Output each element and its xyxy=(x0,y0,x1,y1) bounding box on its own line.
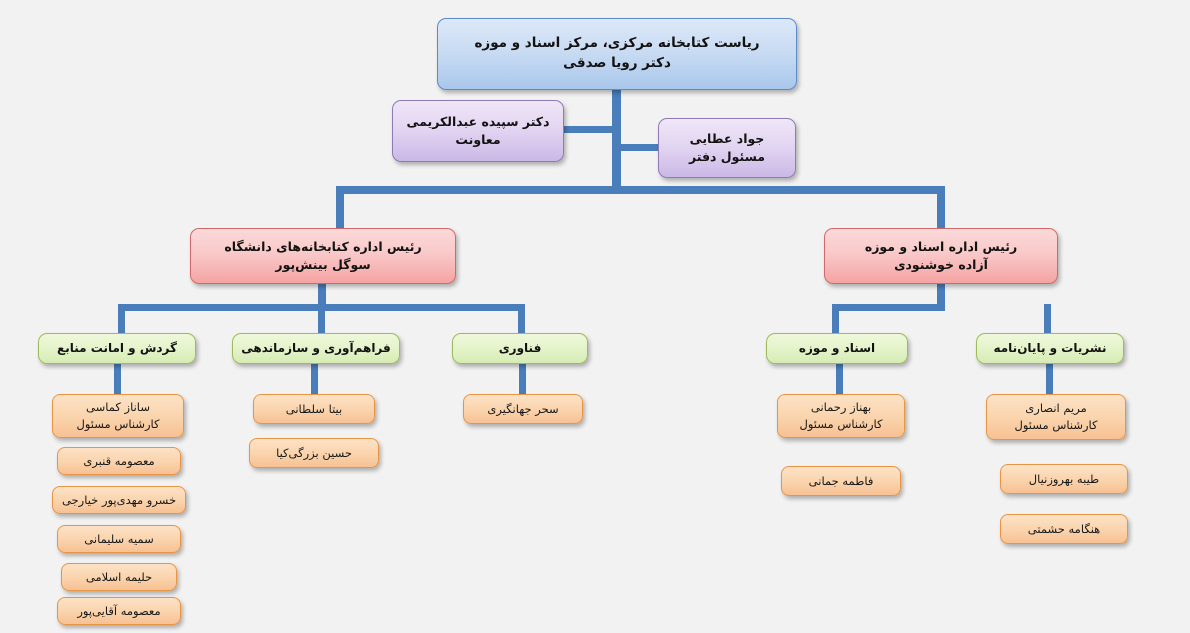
staff-name: هنگامه حشمتی xyxy=(1028,521,1100,538)
staff-name: حسین بزرگی‌کیا xyxy=(276,445,352,462)
node-unit-journals-theses[interactable]: نشریات و پایان‌نامه xyxy=(976,333,1124,364)
node-manager-university-libraries[interactable]: رئیس اداره کتابخانه‌های دانشگاه سوگل بین… xyxy=(190,228,456,284)
node-office-manager-ataei[interactable]: جواد عطایی مسئول دفتر xyxy=(658,118,796,178)
node-root-title: ریاست کتابخانه مرکزی، مرکز اسناد و موزه xyxy=(474,34,759,54)
node-unit-archives-museum[interactable]: اسناد و موزه xyxy=(766,333,908,364)
staff-name: معصومه قنبری xyxy=(83,453,154,470)
node-staff-ansari[interactable]: مریم انصاری کارشناس مسئول xyxy=(986,394,1126,440)
connector-bus-to-unit-nashriyat xyxy=(1044,304,1051,334)
node-manager-2-person: آزاده خوشنودی xyxy=(894,256,988,274)
node-staff-rahmani[interactable]: بهناز رحمانی کارشناس مسئول xyxy=(777,394,905,438)
node-staff-soleimani[interactable]: سمیه سلیمانی xyxy=(57,525,181,553)
staff-name: بیتا سلطانی xyxy=(286,401,342,418)
node-unit-acquisition-organization[interactable]: فراهم‌آوری و سازماندهی xyxy=(232,333,400,364)
node-deputy-1-role: معاونت xyxy=(455,131,500,149)
connector-bus-to-unit-gardesh xyxy=(118,304,125,334)
staff-name: بهناز رحمانی xyxy=(811,399,871,416)
connector-bus-to-manager-left xyxy=(336,186,344,228)
node-manager-2-role: رئیس اداره اسناد و موزه xyxy=(865,238,1017,256)
staff-name: خسرو مهدی‌پور خیارجی xyxy=(62,492,176,509)
connector-unit-nashriyat-to-staff xyxy=(1046,363,1053,396)
staff-name: طیبه بهروزنیال xyxy=(1029,471,1099,488)
staff-name: فاطمه جمانی xyxy=(809,473,874,490)
connector-bus-to-manager-right xyxy=(937,186,945,228)
node-staff-behrouznial[interactable]: طیبه بهروزنیال xyxy=(1000,464,1128,494)
node-staff-jahangiri[interactable]: سحر جهانگیری xyxy=(463,394,583,424)
node-unit-4-label: اسناد و موزه xyxy=(799,340,875,357)
node-staff-ghanbari[interactable]: معصومه قنبری xyxy=(57,447,181,475)
staff-role: کارشناس مسئول xyxy=(799,416,882,433)
node-deputy-2-role: مسئول دفتر xyxy=(689,148,765,166)
staff-name: ساناز کماسی xyxy=(86,399,150,416)
node-unit-technology[interactable]: فناوری xyxy=(452,333,588,364)
node-staff-bozorgikia[interactable]: حسین بزرگی‌کیا xyxy=(249,438,379,468)
staff-name: سحر جهانگیری xyxy=(487,401,558,418)
staff-role: کارشناس مسئول xyxy=(76,416,159,433)
node-staff-jamani[interactable]: فاطمه جمانی xyxy=(781,466,901,496)
node-manager-archives-museum[interactable]: رئیس اداره اسناد و موزه آزاده خوشنودی xyxy=(824,228,1058,284)
node-unit-5-label: نشریات و پایان‌نامه xyxy=(993,340,1106,357)
connector-unit-asnad-to-staff xyxy=(836,363,843,396)
staff-name: سمیه سلیمانی xyxy=(84,531,153,548)
node-deputy-abdolkarimi[interactable]: دکتر سپیده عبدالکریمی معاونت xyxy=(392,100,564,162)
node-manager-1-role: رئیس اداره کتابخانه‌های دانشگاه xyxy=(224,238,421,256)
node-manager-1-person: سوگل بینش‌پور xyxy=(275,256,370,274)
node-staff-aghaeipour[interactable]: معصومه آقایی‌پور xyxy=(57,597,181,625)
node-staff-mehdipour-khiarji[interactable]: خسرو مهدی‌پور خیارجی xyxy=(52,486,186,514)
connector-units-bus-right xyxy=(832,304,944,311)
connector-unit-gardesh-to-staff xyxy=(114,363,121,396)
node-unit-2-label: فراهم‌آوری و سازماندهی xyxy=(241,340,391,357)
connector-root-to-deputy-2 xyxy=(617,144,661,151)
staff-name: حلیمه اسلامی xyxy=(86,569,152,586)
node-deputy-2-person: جواد عطایی xyxy=(690,130,765,148)
connector-root-trunk xyxy=(612,90,621,193)
staff-name: مریم انصاری xyxy=(1025,400,1086,417)
node-unit-3-label: فناوری xyxy=(499,340,542,357)
node-staff-heshmati[interactable]: هنگامه حشمتی xyxy=(1000,514,1128,544)
node-staff-kamasi[interactable]: ساناز کماسی کارشناس مسئول xyxy=(52,394,184,438)
connector-bus-to-unit-faraham xyxy=(318,304,325,334)
node-staff-eslami[interactable]: حلیمه اسلامی xyxy=(61,563,177,591)
staff-name: معصومه آقایی‌پور xyxy=(77,603,160,620)
staff-role: کارشناس مسئول xyxy=(1014,417,1097,434)
node-root-person: دکتر رویا صدقی xyxy=(563,54,671,74)
org-chart-canvas: ریاست کتابخانه مرکزی، مرکز اسناد و موزه … xyxy=(0,0,1190,633)
node-deputy-1-person: دکتر سپیده عبدالکریمی xyxy=(407,113,550,131)
node-unit-circulation[interactable]: گردش و امانت منابع xyxy=(38,333,196,364)
connector-unit-faraham-to-staff xyxy=(311,363,318,396)
connector-bus-to-unit-fanavari xyxy=(518,304,525,334)
node-staff-soltani[interactable]: بیتا سلطانی xyxy=(253,394,375,424)
connector-unit-fanavari-to-staff xyxy=(519,363,526,396)
connector-root-to-deputy-1 xyxy=(563,126,618,133)
node-unit-1-label: گردش و امانت منابع xyxy=(57,340,177,357)
connector-main-bus xyxy=(336,186,945,194)
node-root-presidency[interactable]: ریاست کتابخانه مرکزی، مرکز اسناد و موزه … xyxy=(437,18,797,90)
connector-bus-to-unit-asnad xyxy=(832,304,839,334)
